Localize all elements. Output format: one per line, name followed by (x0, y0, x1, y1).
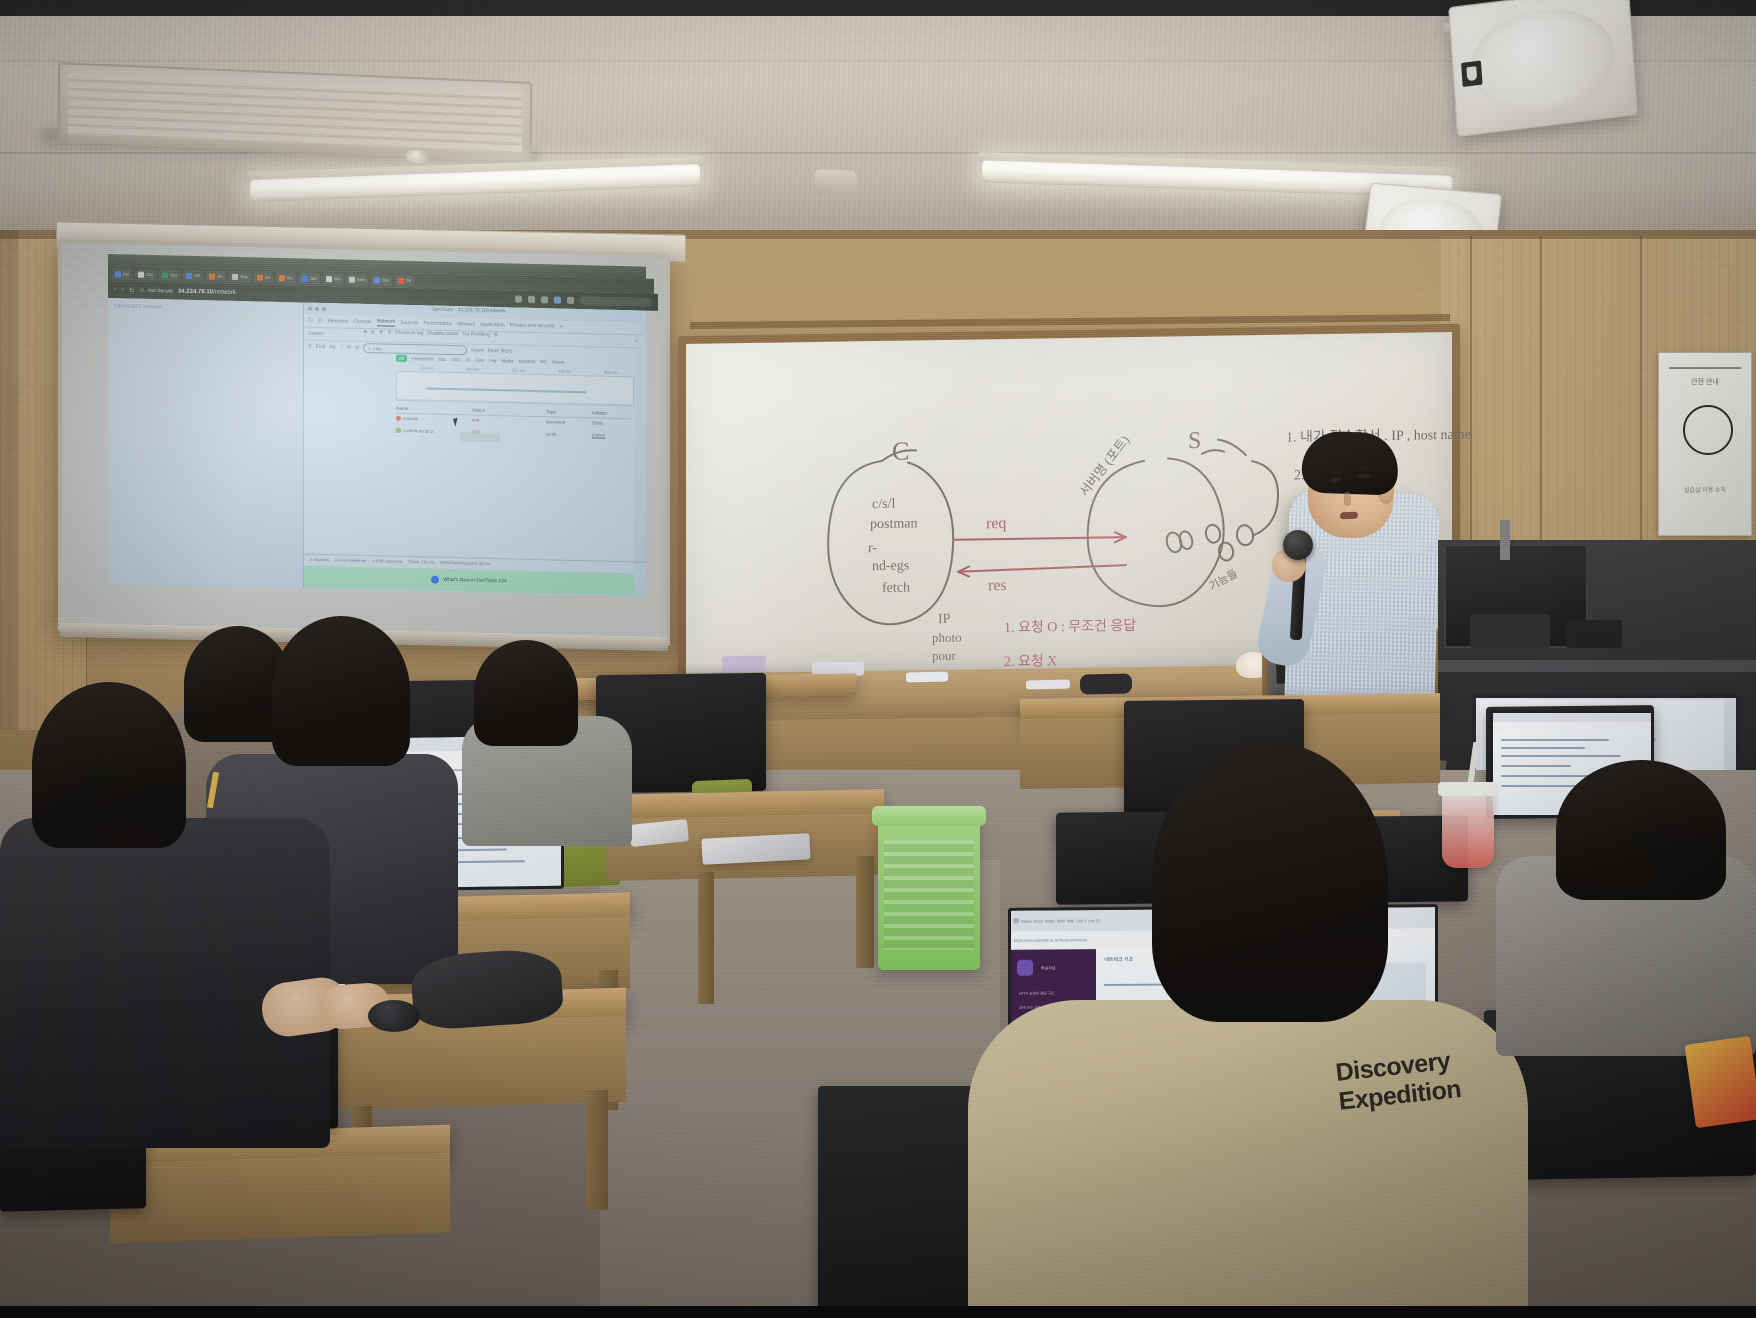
wall-sign-rule (1669, 367, 1741, 369)
script-icon (396, 427, 401, 432)
column-status[interactable]: Status (472, 407, 546, 414)
settings-gear-icon[interactable]: ⚙ (494, 332, 498, 338)
presenter-nose (1344, 492, 1351, 506)
favicon-icon (209, 273, 215, 279)
find-icon[interactable]: ⚲ (308, 344, 312, 350)
tab-label[interactable]: Lab 1 (1076, 918, 1086, 923)
tab-5[interactable]: Res (229, 271, 250, 282)
devtools-window[interactable]: DevTools - 34.224.78.10/notwork ⎋ ⎙ Elem… (303, 303, 634, 596)
tab-10[interactable]: Adm (346, 274, 368, 286)
devtools-logo-icon (431, 576, 439, 584)
url-host: 34.224.78.10 (178, 288, 213, 295)
student-far-right-head (1556, 760, 1726, 900)
desk-item-purple-box (722, 656, 766, 673)
tab-8[interactable]: Spc (299, 272, 320, 283)
timeline-tick-3: 400 ms (558, 369, 571, 374)
device-toolbar-icon[interactable]: ⎙ (318, 317, 323, 324)
favicon-icon (398, 277, 404, 283)
projector-screen: Net Doc Sys API Srv Res Url Svc Spc Mtr … (62, 243, 666, 641)
document-icon (396, 415, 401, 420)
screen-url-text: https://edu.example.ac.kr/lecture/networ… (1014, 938, 1087, 944)
favicon-icon (302, 275, 308, 281)
column-initiator[interactable]: Initiator (592, 410, 632, 416)
favicon-icon (257, 274, 263, 280)
favicon-icon (326, 276, 332, 282)
status-tooltip (460, 432, 500, 442)
presenter-eye-right (1358, 474, 1370, 479)
bin-lid (872, 806, 986, 826)
browser-toolbar-right[interactable] (515, 295, 652, 307)
tab-3[interactable]: API (183, 270, 203, 281)
favicon-icon (232, 273, 238, 279)
drink-cup-lid (1438, 782, 1498, 796)
forward-icon[interactable]: › (121, 286, 123, 293)
screen-line (1501, 739, 1609, 741)
timeline-tick-4: 500 ms (604, 370, 617, 375)
wall-sign-body: 실습실 이용 수칙 (1671, 485, 1739, 494)
presenter-mouth (1340, 512, 1358, 520)
screen-heading: 네트워크 기초 (1104, 956, 1133, 963)
wall-sign-title: 안전 안내 (1671, 377, 1739, 387)
tab-elements[interactable]: Elements (328, 318, 349, 324)
timeline-tick-2: 300 ms (512, 367, 525, 372)
tab-sources[interactable]: Sources (400, 320, 418, 326)
cell-name: notwork (403, 415, 418, 420)
filter-placeholder-text: Filter (373, 346, 382, 351)
ac-vent-louvers (68, 72, 522, 153)
cell-type: script (546, 431, 592, 437)
status-transferred: 3.4 kB transferred (335, 557, 367, 563)
warning-triangle-icon: ⚠ (140, 287, 145, 294)
type-filter-js[interactable]: JS (465, 357, 470, 362)
filter-icon[interactable]: ▼ (379, 329, 384, 335)
screen-line (1501, 755, 1621, 757)
column-name[interactable]: Name (396, 405, 472, 412)
microphone-head[interactable] (1283, 530, 1313, 560)
student-mid-left-head (272, 616, 410, 766)
cell-initiator: (index) (592, 432, 632, 438)
presenter-eyebrow-left (1328, 470, 1343, 473)
preserve-log-checkbox[interactable]: Preserve log (395, 330, 423, 337)
clear-icon[interactable]: ⊘ (371, 329, 375, 335)
network-waterfall-panel[interactable] (396, 371, 634, 407)
filter-funnel-icon: ▼ (367, 346, 371, 351)
screen-line (1501, 765, 1571, 767)
inspect-icon[interactable]: ⎋ (308, 317, 313, 324)
throttling-select[interactable]: No throttling (463, 331, 490, 338)
student-center-head (474, 640, 578, 746)
match-case-icon[interactable]: Aa (329, 344, 335, 350)
rack-device-1 (1470, 614, 1550, 648)
desk-front-low-face (316, 1016, 626, 1111)
tab-console[interactable]: Console (353, 319, 371, 325)
desk-item-paper (906, 672, 948, 683)
search-input[interactable] (580, 296, 652, 307)
more-filters-dropdown[interactable]: More filters (488, 348, 513, 355)
find-label: Find (316, 344, 326, 350)
screen-line (1501, 747, 1585, 749)
extension-icon[interactable] (515, 296, 522, 303)
tab-performance[interactable]: Performance (423, 320, 452, 327)
close-icon[interactable]: × (635, 338, 638, 344)
cell-status: 404 (472, 417, 546, 424)
regex-icon[interactable]: .* (340, 344, 343, 350)
not-secure-indicator[interactable]: ⚠ Not Secure (140, 287, 173, 295)
wall-edge-shadow-left (0, 230, 18, 730)
favicon-icon (138, 271, 144, 277)
status-finish: Finish: 156 ms (409, 559, 435, 565)
desk-item-remote (1026, 680, 1070, 690)
cell-type: document (546, 419, 592, 425)
tab-favicon-icon (1013, 918, 1019, 924)
type-filter-all[interactable]: All (396, 355, 407, 362)
favicon-icon (349, 276, 355, 282)
timeline-tick-0: 100 ms (420, 365, 433, 370)
screen-url-bar (1493, 722, 1654, 730)
url-text[interactable]: 34.224.78.10/notwork (178, 288, 236, 295)
student-front-left-head (32, 682, 186, 848)
tab-label[interactable]: Wiki (1057, 918, 1065, 923)
sidebar-item[interactable]: HTTP 요청과 응답 구조 (1019, 992, 1054, 997)
search-icon[interactable]: ⚲ (388, 330, 392, 336)
tab-memory[interactable]: Memory (457, 321, 475, 327)
desk-leg (856, 856, 874, 968)
favicon-icon (115, 271, 121, 277)
refresh-icon[interactable]: ⟳ (347, 345, 351, 351)
url-path: /notwork (213, 289, 236, 296)
sidebar-title: 학습자료 (1041, 966, 1056, 972)
cell-initiator: Other (592, 420, 632, 426)
profile-icon[interactable] (541, 296, 548, 303)
favicon-icon (279, 274, 285, 280)
projected-browser-window: Net Doc Sys API Srv Res Url Svc Spc Mtr … (108, 254, 646, 597)
type-filter-img[interactable]: Img (489, 358, 496, 363)
status-requests: 2 requests (310, 557, 329, 562)
rack-device-2 (1566, 620, 1622, 648)
type-filter-wasm[interactable]: Wasm (552, 359, 564, 364)
favicon-icon (374, 277, 380, 283)
record-icon[interactable]: ⏺ (364, 329, 367, 335)
tab-7[interactable]: Svc (276, 272, 297, 283)
tab-label[interactable]: Notes (1045, 918, 1055, 923)
tab-network[interactable]: Network (377, 318, 395, 326)
tab-12[interactable]: Prt (395, 275, 414, 286)
type-filter-css[interactable]: CSS (451, 357, 460, 362)
wall-sign-circle-icon (1683, 405, 1733, 455)
back-icon[interactable]: ‹ (114, 286, 116, 293)
reload-icon[interactable]: ↻ (129, 286, 135, 294)
desk-front-nearest-face (110, 1153, 450, 1244)
tab-11[interactable]: Site (371, 274, 392, 285)
student-front-right-head (1152, 742, 1388, 1022)
speaker-brand-badge (1461, 61, 1483, 87)
mouse-front-desk[interactable] (368, 1000, 420, 1032)
favicon-icon (186, 272, 192, 278)
favicon-icon (162, 272, 168, 278)
type-filter-fetch-xhr[interactable]: Fetch/XHR (412, 356, 433, 362)
type-filter-font[interactable]: Font (475, 358, 484, 363)
tab-privacy-security[interactable]: Privacy and security (510, 322, 555, 329)
type-filter-manifest[interactable]: Manifest (518, 359, 535, 364)
menu-icon[interactable] (554, 296, 561, 303)
classroom-photo-scene: 안전 안내 실습실 이용 수칙 Net Doc Sys API Srv Res … (0, 0, 1756, 1318)
app-icon[interactable] (1017, 960, 1033, 976)
desk-leg (698, 872, 714, 1004)
status-resources: 4.8 kB resources (372, 558, 402, 564)
not-secure-label: Not Secure (148, 287, 173, 294)
whats-new-text: What's New in DevTools 134 (443, 577, 506, 584)
more-tabs-icon[interactable]: » (559, 324, 562, 330)
rack-shelf (1438, 660, 1756, 672)
page-error-message: Cannot GET /notwork (114, 303, 162, 310)
wall-seam-right-c (1470, 236, 1472, 546)
presenter-eye-left (1330, 478, 1342, 483)
tab-2[interactable]: Sys (159, 269, 180, 280)
desk-leg (586, 1090, 608, 1210)
stop-icon[interactable]: ⊘ (355, 345, 359, 351)
cell-name: content-script.js (403, 427, 434, 433)
tab-1[interactable]: Doc (135, 269, 156, 280)
bookmark-icon[interactable] (528, 296, 535, 303)
column-type[interactable]: Type (546, 409, 592, 415)
search-panel-label: Search (308, 331, 324, 337)
wall-sign: 안전 안내 실습실 이용 수칙 (1658, 352, 1752, 536)
status-domcontentloaded: DOMContentLoaded: 88 ms (441, 560, 491, 566)
disable-cache-checkbox[interactable]: Disable cache (427, 330, 458, 337)
tab-application[interactable]: Application (480, 322, 504, 329)
share-icon[interactable] (567, 297, 574, 304)
tab-0[interactable]: Net (112, 268, 132, 279)
type-filter-ws[interactable]: WS (540, 359, 547, 364)
image-bottom-letterbox (0, 1306, 1756, 1318)
tab-4[interactable]: Srv (206, 270, 226, 281)
presenter-eyebrow-right (1356, 466, 1371, 469)
bin-ribs (884, 840, 974, 950)
snack-bag (1684, 1036, 1756, 1128)
screen-chrome-bar (1493, 713, 1654, 722)
tab-label[interactable]: Mail (1067, 918, 1074, 923)
iced-drink-cup (1442, 790, 1494, 868)
tab-label[interactable]: Lec 21 (1088, 918, 1100, 923)
speaker-mount-bracket (815, 169, 857, 197)
tab-label[interactable]: Docs (1034, 918, 1043, 923)
speaker-grill-icon (1468, 1, 1618, 118)
tab-6[interactable]: Url (254, 271, 273, 282)
tab-9[interactable]: Mtr (323, 273, 343, 284)
type-filter-media[interactable]: Media (501, 358, 513, 363)
timeline-tick-1: 200 ms (466, 366, 479, 371)
wall-speaker-right-upper (1448, 0, 1638, 137)
tab-label[interactable]: Home (1021, 919, 1032, 924)
filter-input[interactable]: ▼ Filter (363, 343, 467, 355)
desk-item-black-case (1080, 674, 1132, 695)
rack-post (1500, 520, 1510, 560)
type-filter-doc[interactable]: Doc (438, 357, 446, 362)
invert-checkbox[interactable]: Invert (471, 348, 484, 354)
